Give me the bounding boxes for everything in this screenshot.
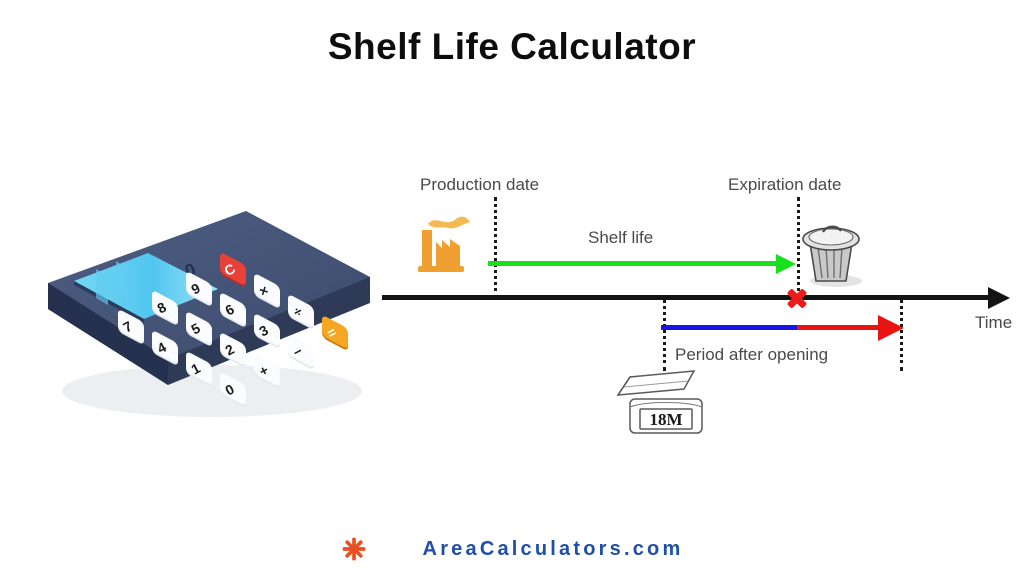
factory-icon bbox=[412, 212, 482, 274]
shelf-life-arrowhead-icon bbox=[776, 254, 796, 274]
shelf-life-label: Shelf life bbox=[588, 228, 653, 248]
page-title: Shelf Life Calculator bbox=[0, 26, 1024, 68]
opening-start-guide-line bbox=[663, 299, 666, 371]
asterisk-icon bbox=[341, 536, 367, 562]
time-axis-arrowhead-icon bbox=[988, 287, 1010, 309]
calculator-svg: 0 7 8 9 C bbox=[40, 185, 380, 425]
calculator-illustration: 0 7 8 9 C bbox=[40, 185, 380, 425]
open-jar-pao-icon: 18M bbox=[606, 367, 726, 445]
shelf-life-diagram: Production date Expiration date Shelf li… bbox=[370, 165, 1024, 455]
production-date-guide-line bbox=[494, 197, 497, 299]
site-name-text[interactable]: AreaCalculators.com bbox=[423, 538, 684, 561]
time-axis-line bbox=[382, 295, 997, 300]
site-footer: AreaCalculators.com bbox=[0, 536, 1024, 562]
calculator-key-minus[interactable]: − bbox=[288, 334, 314, 371]
production-date-label: Production date bbox=[420, 175, 539, 195]
trash-bin-icon bbox=[796, 217, 866, 289]
period-after-opening-label: Period after opening bbox=[675, 345, 828, 365]
period-after-opening-red-segment bbox=[797, 325, 885, 330]
time-axis-label: Time bbox=[975, 313, 1012, 333]
period-after-opening-arrowhead-icon bbox=[878, 315, 904, 341]
calculator-key-equals[interactable]: = bbox=[322, 315, 348, 352]
shelf-life-arrow-line bbox=[488, 261, 782, 266]
period-after-opening-blue-segment bbox=[661, 325, 797, 330]
expiration-date-label: Expiration date bbox=[728, 175, 841, 195]
pao-symbol-value: 18M bbox=[649, 410, 682, 429]
